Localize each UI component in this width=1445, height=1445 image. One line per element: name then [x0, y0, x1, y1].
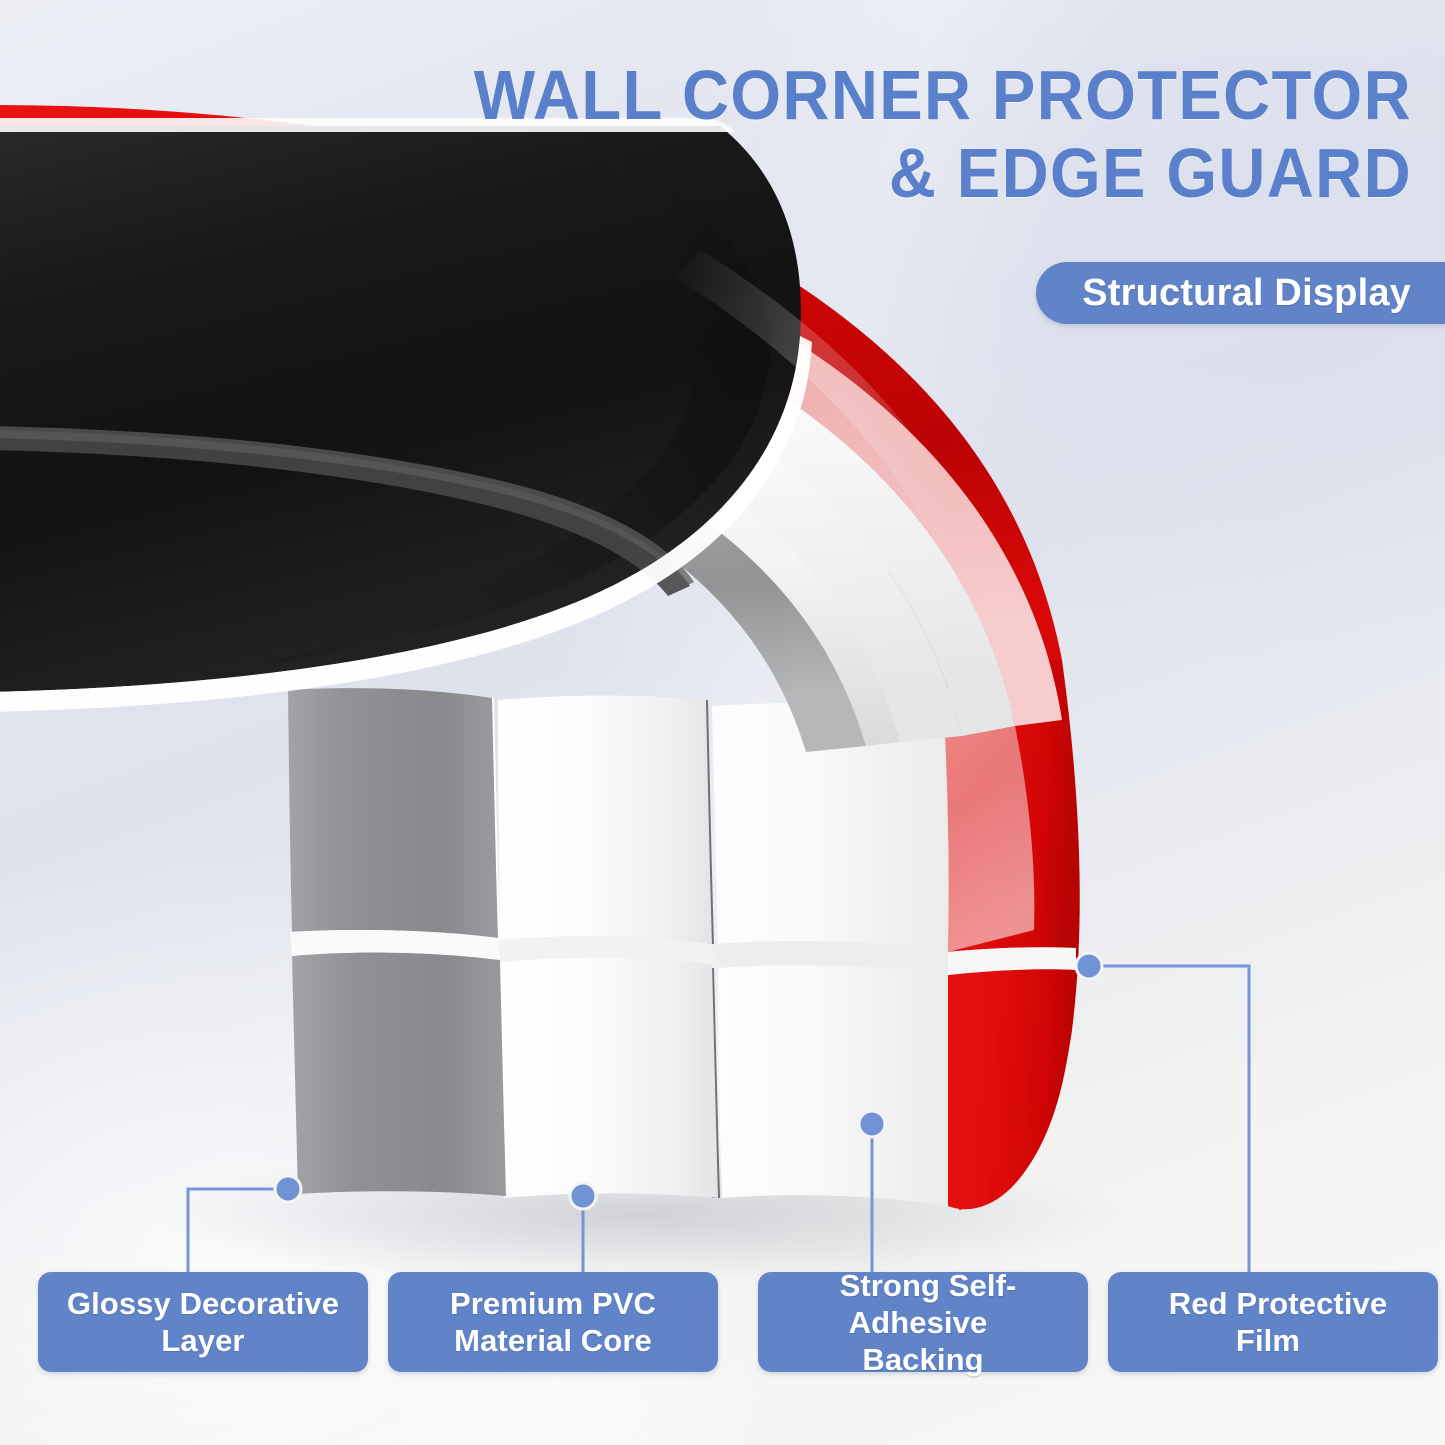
callout-label-text: Glossy Decorative Layer [47, 1285, 359, 1359]
callout-label-line-2: Material Core [444, 1323, 662, 1358]
callout-label-text: Strong Self-Adhesive Backing [758, 1267, 1088, 1378]
callout-label-line-1: Strong Self-Adhesive [830, 1268, 1017, 1340]
callout-dot-strong-self-adhesive-backing [859, 1111, 885, 1137]
callout-label-line-1: Premium PVC [440, 1286, 666, 1321]
callout-dot-premium-pvc-material-core [570, 1183, 596, 1209]
callout-label-line-2: Backing [852, 1342, 993, 1377]
infographic-canvas: WALL CORNER PROTECTOR & EDGE GUARD Struc… [0, 0, 1445, 1445]
page-title: WALL CORNER PROTECTOR & EDGE GUARD [0, 56, 1412, 212]
callout-dot-glossy-decorative-layer [275, 1176, 301, 1202]
callout-label-text: Premium PVC Material Core [430, 1285, 676, 1359]
callout-label-line-1: Red Protective Film [1159, 1286, 1387, 1358]
structural-display-badge-label: Structural Display [1082, 272, 1411, 315]
callout-label-glossy-decorative-layer: Glossy Decorative Layer [38, 1272, 368, 1372]
callout-label-red-protective-film: Red Protective Film [1108, 1272, 1438, 1372]
callout-label-premium-pvc-material-core: Premium PVC Material Core [388, 1272, 718, 1372]
title-line-2: & EDGE GUARD [99, 134, 1412, 212]
callout-label-strong-self-adhesive-backing: Strong Self-Adhesive Backing [758, 1272, 1088, 1372]
structural-display-badge: Structural Display [1036, 262, 1445, 324]
callout-label-line-1: Glossy Decorative [57, 1286, 349, 1321]
callout-label-line-2: Layer [151, 1323, 254, 1358]
callout-line-glossy-decorative-layer [188, 1189, 288, 1272]
title-line-1: WALL CORNER PROTECTOR [99, 56, 1412, 134]
callout-line-red-protective-film [1089, 966, 1249, 1272]
callout-connectors [0, 0, 1445, 1445]
callout-dot-red-protective-film [1076, 953, 1102, 979]
callout-label-text: Red Protective Film [1108, 1285, 1438, 1359]
